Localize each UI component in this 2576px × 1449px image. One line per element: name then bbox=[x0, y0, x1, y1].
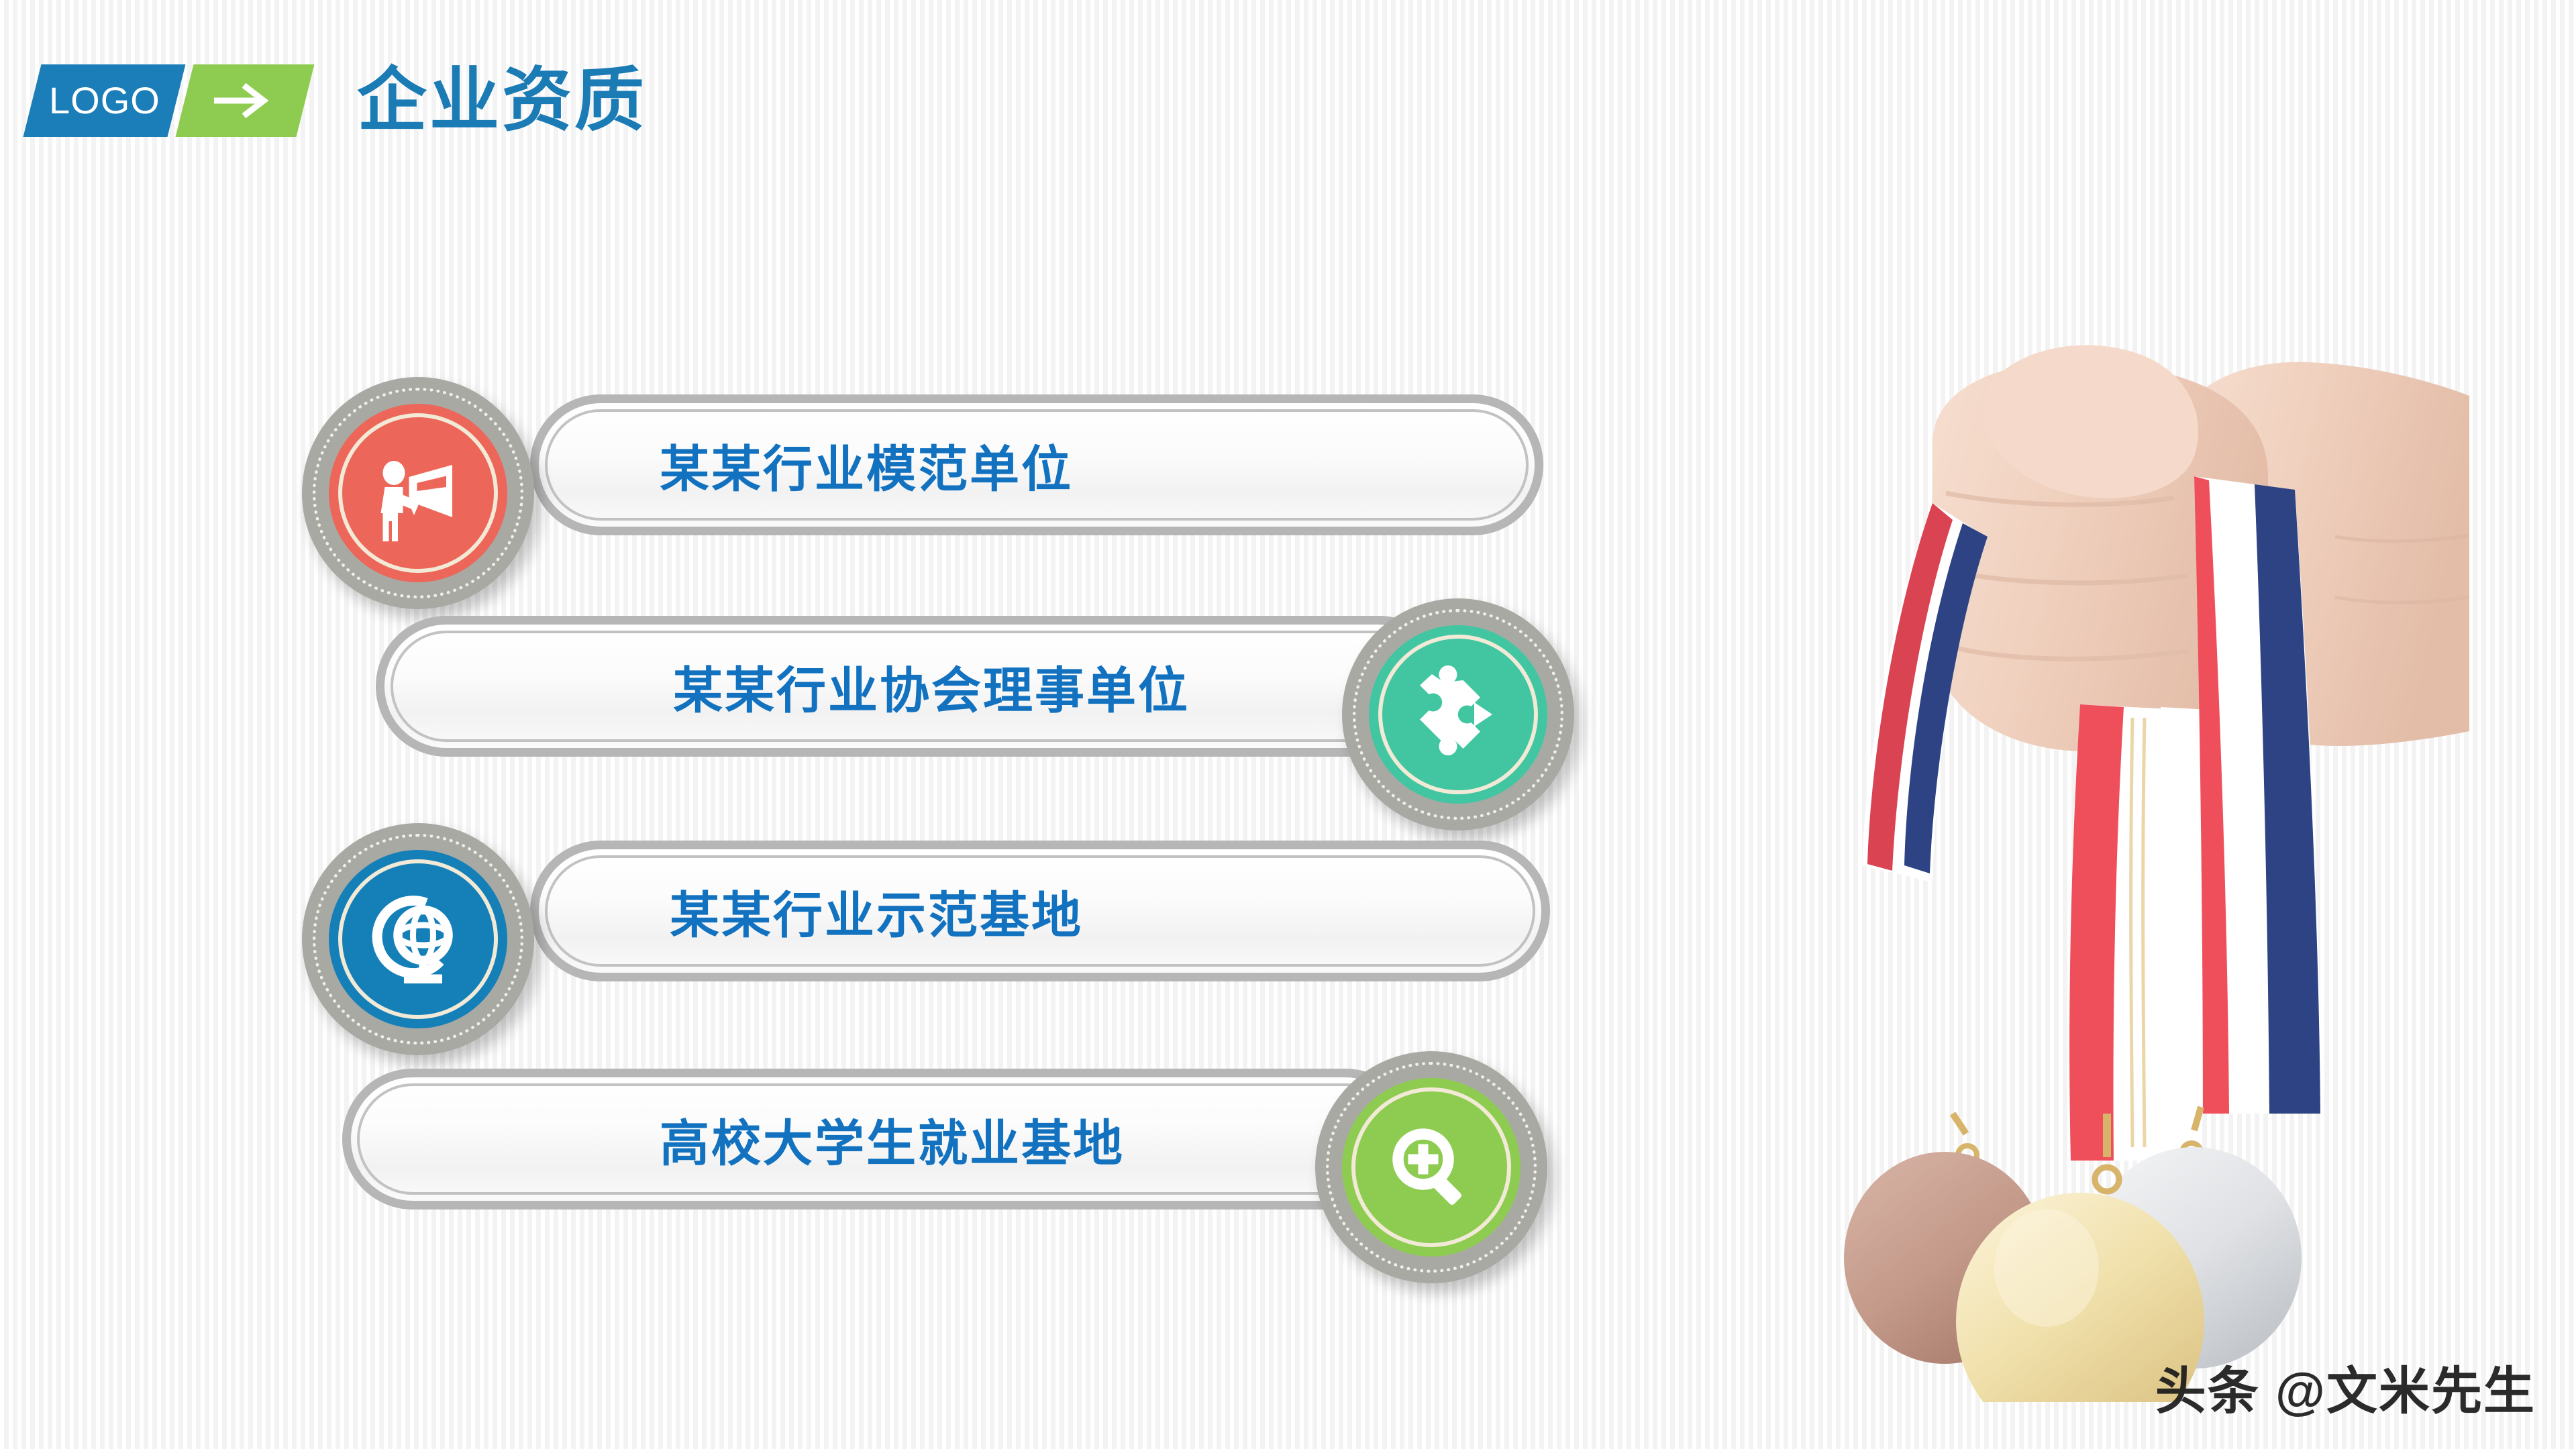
row-label: 某某行业示范基地 bbox=[539, 849, 1541, 973]
badge-medallion[interactable] bbox=[1342, 598, 1574, 830]
badge-disc bbox=[329, 850, 507, 1028]
badge-disc bbox=[329, 404, 507, 582]
row-label: 高校大学生就业基地 bbox=[351, 1077, 1407, 1201]
row-pill[interactable]: 高校大学生就业基地 bbox=[342, 1069, 1416, 1210]
badge-disc bbox=[1369, 625, 1547, 804]
badge-disc bbox=[1342, 1078, 1521, 1256]
list-item[interactable]: 高校大学生就业基地 bbox=[0, 1036, 1644, 1238]
row-pill[interactable]: 某某行业示范基地 bbox=[530, 841, 1550, 981]
slide-canvas: LOGO 企业资质 某某行业模范单位 bbox=[0, 0, 2576, 1449]
list-item[interactable]: 某某行业协会理事单位 bbox=[0, 584, 1644, 785]
row-pill[interactable]: 某某行业协会理事单位 bbox=[376, 616, 1449, 757]
row-label: 某某行业协会理事单位 bbox=[384, 625, 1441, 748]
desk-globe-icon bbox=[368, 889, 468, 989]
badge-medallion[interactable] bbox=[302, 377, 534, 609]
badge-medallion[interactable] bbox=[1315, 1051, 1547, 1283]
list-item[interactable]: 某某行业示范基地 bbox=[0, 808, 1610, 1010]
list-item[interactable]: 某某行业模范单位 bbox=[0, 362, 1610, 563]
hand-holding-medals-photo bbox=[1731, 221, 2469, 1402]
watermark-text: 头条 @文米先生 bbox=[2155, 1350, 2536, 1424]
badge-medallion[interactable] bbox=[302, 823, 534, 1055]
row-pill[interactable]: 某某行业模范单位 bbox=[530, 394, 1543, 535]
magnifier-plus-icon bbox=[1381, 1117, 1482, 1218]
row-label: 某某行业模范单位 bbox=[539, 403, 1535, 527]
medals-illustration bbox=[1731, 221, 2469, 1402]
puzzle-piece-icon bbox=[1408, 664, 1508, 765]
megaphone-person-icon bbox=[368, 443, 468, 543]
